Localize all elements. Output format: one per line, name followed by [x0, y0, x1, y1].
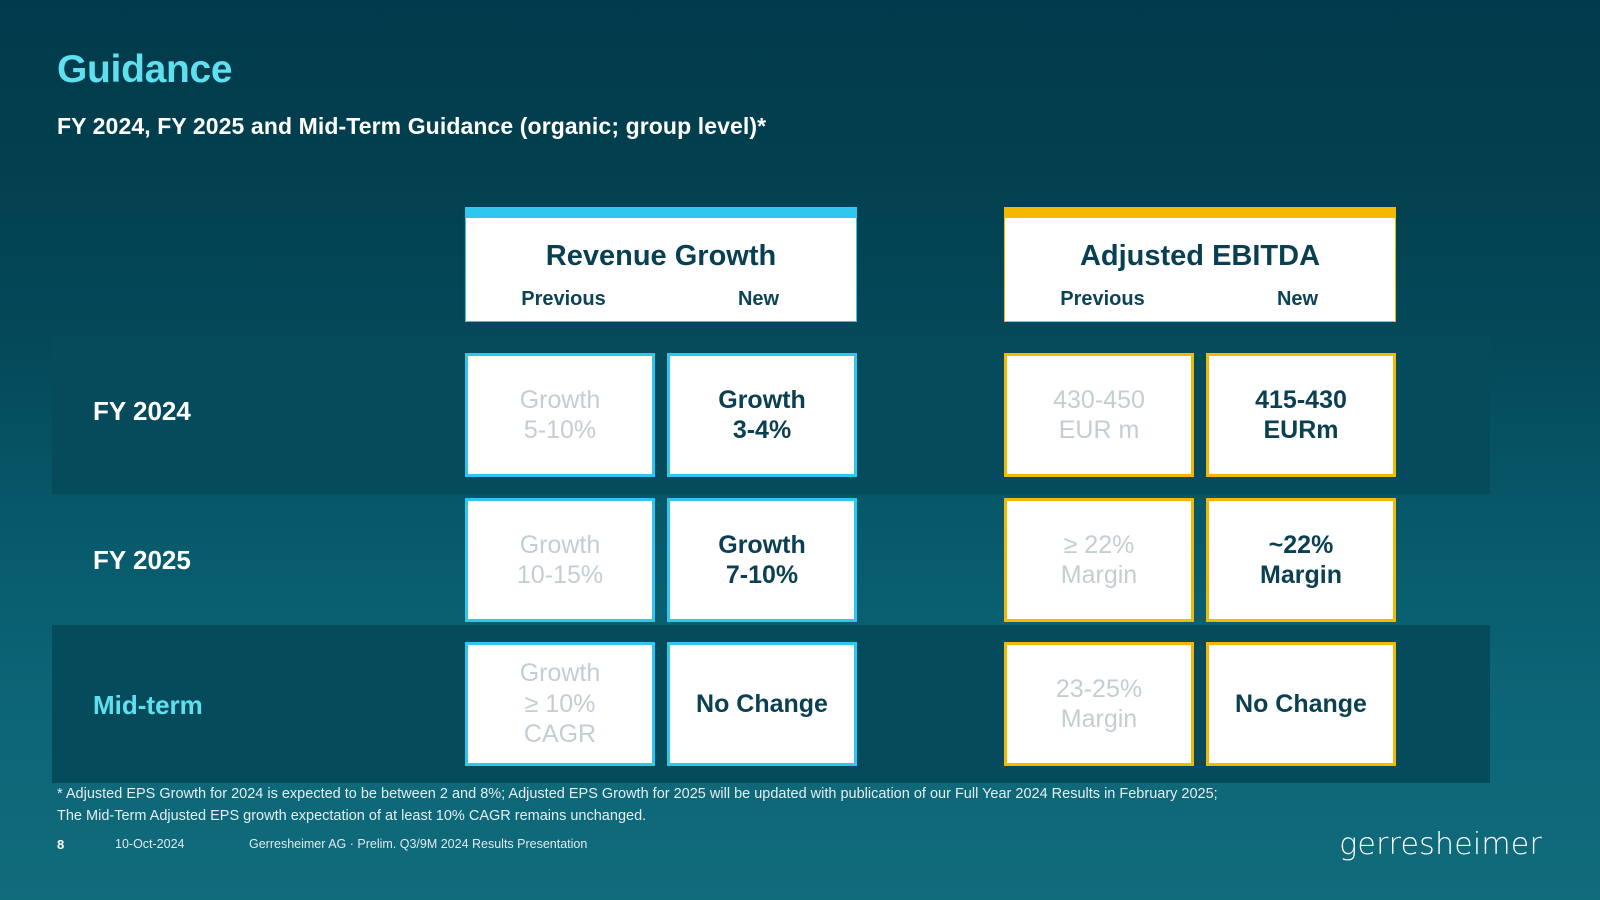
- page-number: 8: [57, 837, 64, 852]
- cell-fy2024-ebitda-previous: 430-450 EUR m: [1004, 353, 1194, 477]
- column-label-ebitda-previous: Previous: [1005, 288, 1200, 311]
- footer-source: Gerresheimer AG · Prelim. Q3/9M 2024 Res…: [249, 837, 587, 851]
- row-label-fy2024: FY 2024: [93, 396, 191, 427]
- footnote-line-2: The Mid-Term Adjusted EPS growth expecta…: [57, 806, 1397, 828]
- column-label-ebitda-new: New: [1200, 288, 1395, 311]
- cell-fy2024-revenue-new: Growth 3-4%: [667, 353, 857, 477]
- page-title: Guidance: [57, 50, 232, 89]
- column-group-label-revenue: Revenue Growth: [466, 240, 856, 273]
- cell-midterm-ebitda-previous: 23-25% Margin: [1004, 642, 1194, 766]
- gerresheimer-logo: gerresheimer: [1339, 827, 1542, 862]
- page-subtitle: FY 2024, FY 2025 and Mid-Term Guidance (…: [57, 114, 766, 139]
- cell-midterm-revenue-new: No Change: [667, 642, 857, 766]
- column-header-adjusted-ebitda: Adjusted EBITDA Previous New: [1004, 207, 1396, 322]
- footnote: * Adjusted EPS Growth for 2024 is expect…: [57, 784, 1397, 828]
- row-label-midterm: Mid-term: [93, 690, 203, 721]
- column-label-revenue-previous: Previous: [466, 288, 661, 311]
- cell-fy2025-revenue-previous: Growth 10-15%: [465, 498, 655, 622]
- column-header-revenue-growth: Revenue Growth Previous New: [465, 207, 857, 322]
- cell-fy2024-revenue-previous: Growth 5-10%: [465, 353, 655, 477]
- cell-fy2025-ebitda-previous: ≥ 22% Margin: [1004, 498, 1194, 622]
- column-label-revenue-new: New: [661, 288, 856, 311]
- cell-fy2024-ebitda-new: 415-430 EURm: [1206, 353, 1396, 477]
- slide-canvas: Guidance FY 2024, FY 2025 and Mid-Term G…: [0, 0, 1600, 900]
- cell-midterm-ebitda-new: No Change: [1206, 642, 1396, 766]
- column-group-label-ebitda: Adjusted EBITDA: [1005, 240, 1395, 273]
- footnote-line-1: * Adjusted EPS Growth for 2024 is expect…: [57, 784, 1397, 806]
- cell-fy2025-ebitda-new: ~22% Margin: [1206, 498, 1396, 622]
- cell-midterm-revenue-previous: Growth ≥ 10% CAGR: [465, 642, 655, 766]
- row-label-fy2025: FY 2025: [93, 545, 191, 576]
- cell-fy2025-revenue-new: Growth 7-10%: [667, 498, 857, 622]
- footer-date: 10-Oct-2024: [115, 837, 184, 851]
